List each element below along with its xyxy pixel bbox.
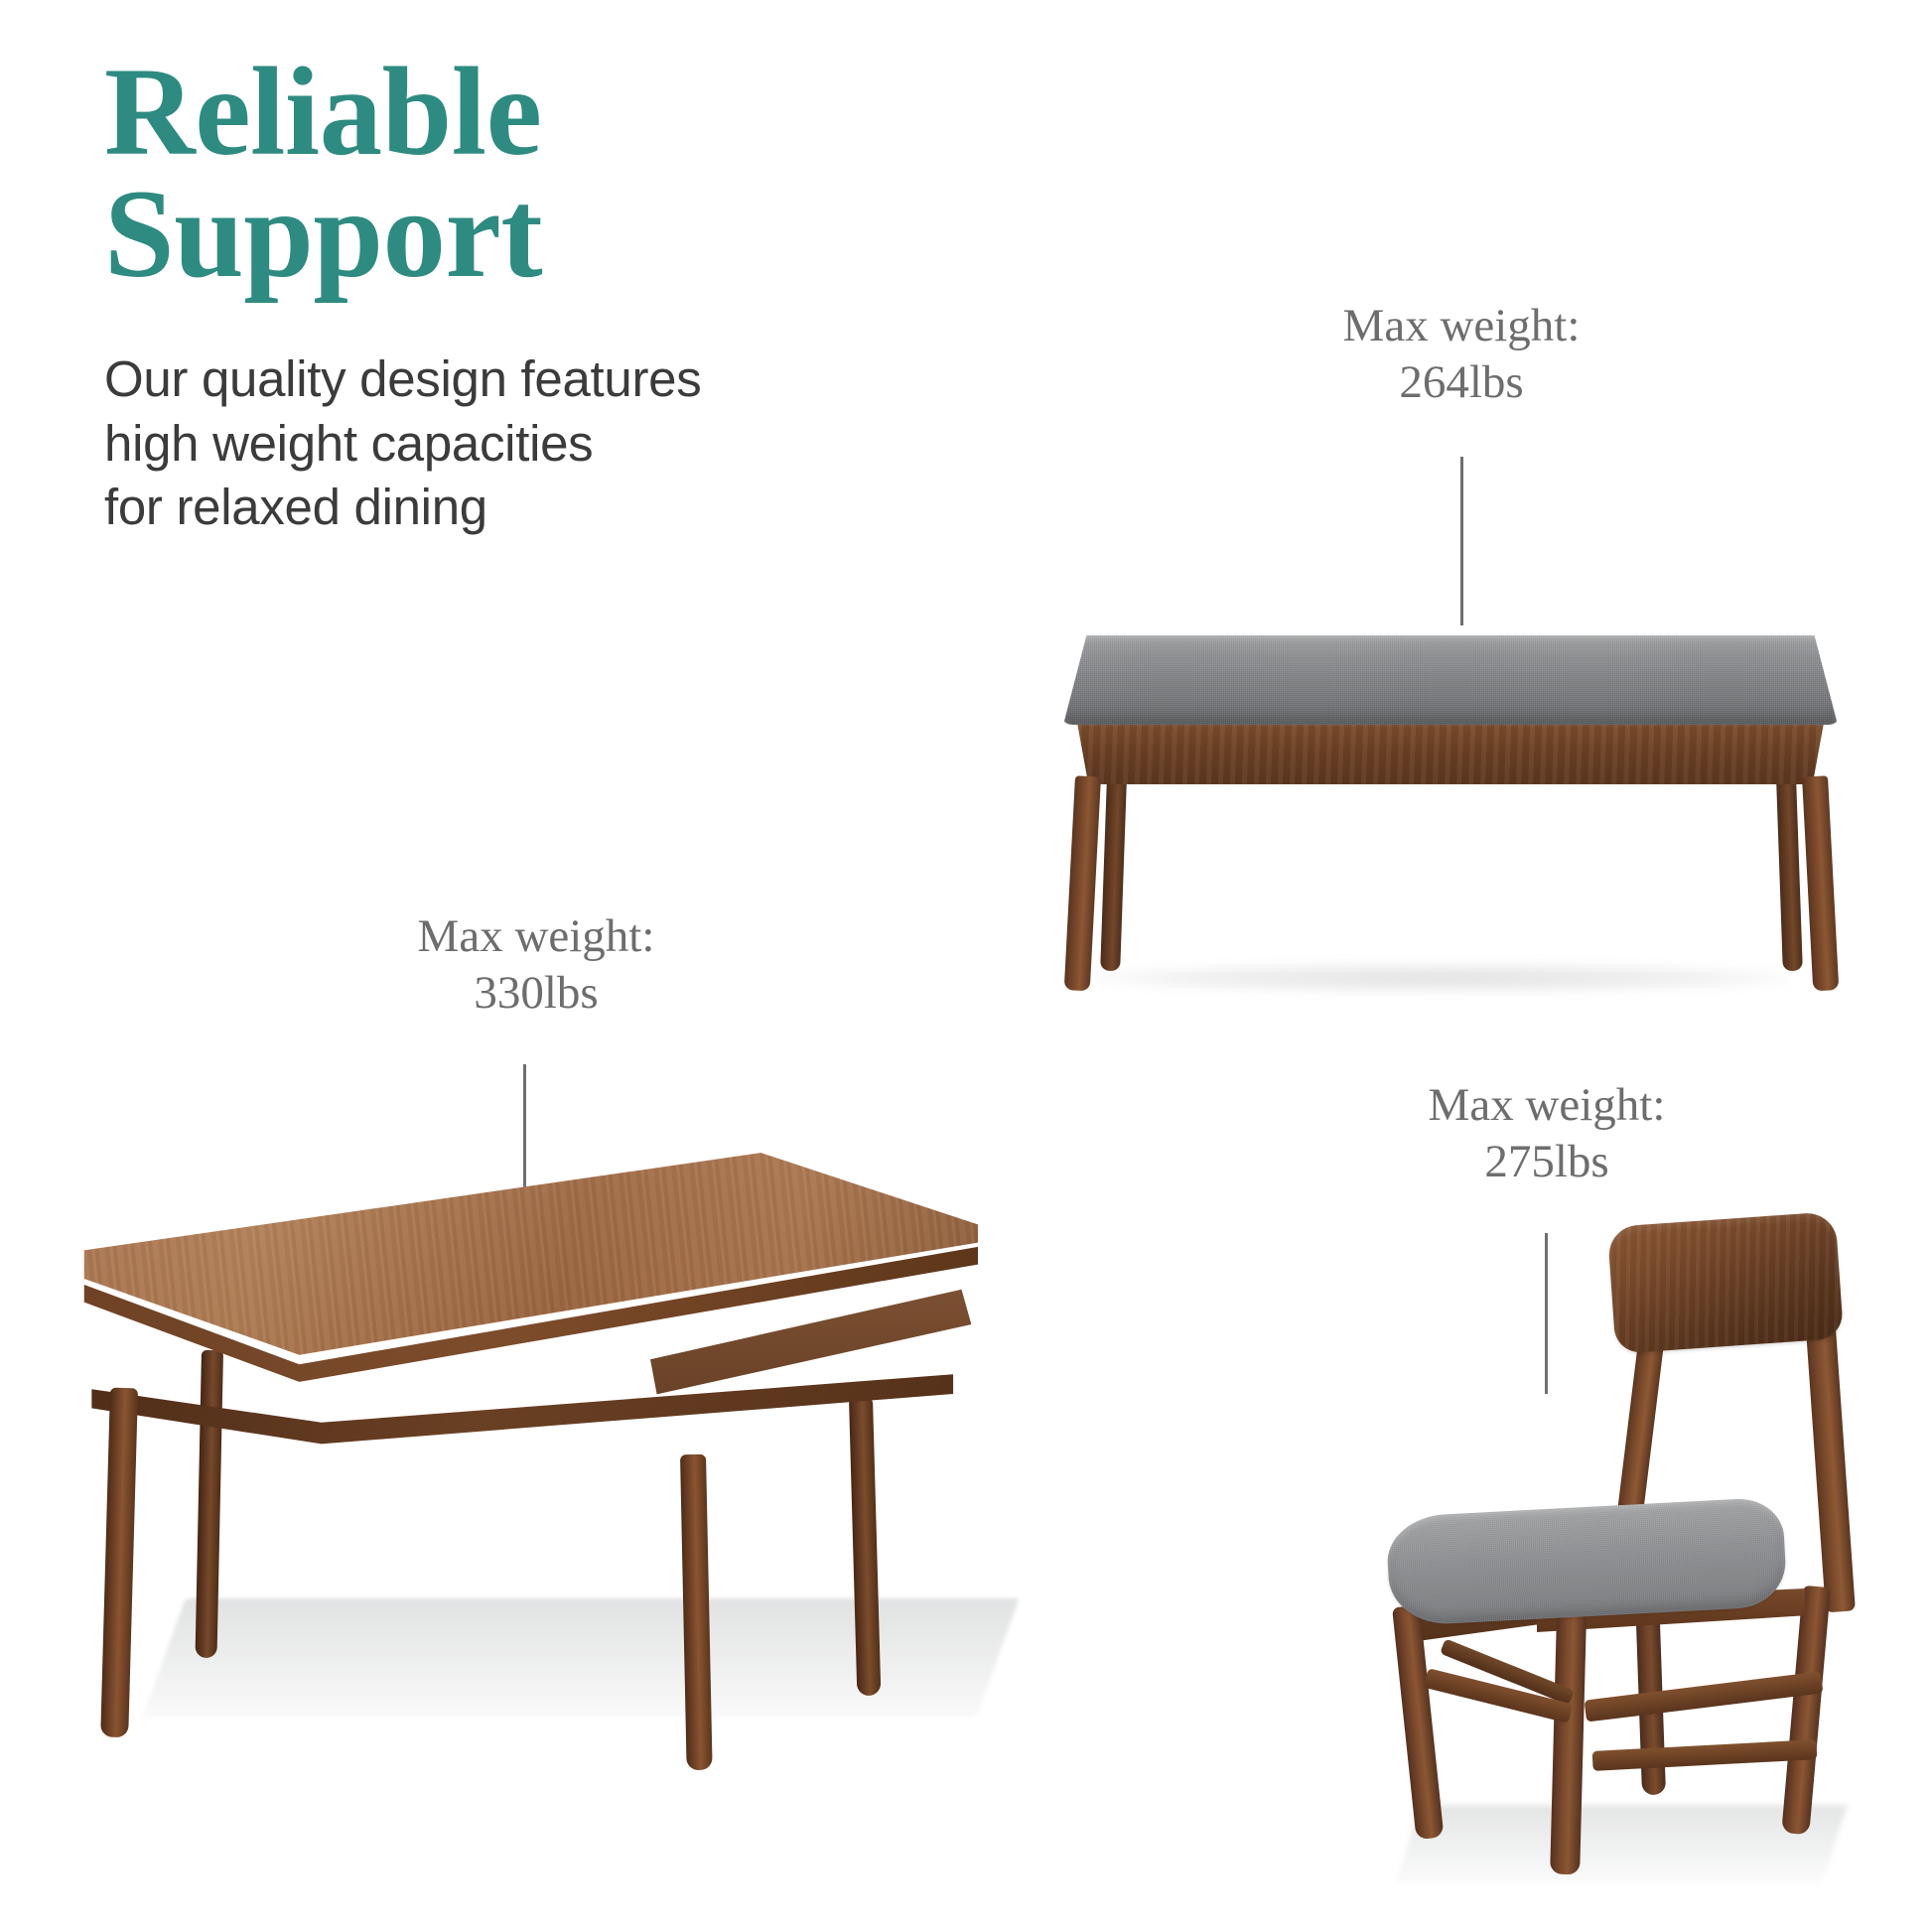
chair-back-post-right (1805, 1313, 1856, 1612)
callout-chair-value: 275lbs (1299, 1134, 1795, 1190)
page-subtitle-line-2: high weight capacities (104, 412, 859, 476)
page-title-line-1: Reliable (104, 52, 859, 174)
infographic-canvas: Reliable Support Our quality design feat… (0, 0, 1932, 1932)
bench-leg-front-right (1802, 775, 1839, 991)
page-subtitle-line-3: for relaxed dining (104, 476, 859, 539)
product-image-table (55, 1142, 1176, 1737)
callout-bench: Max weight: 264lbs (1213, 298, 1710, 412)
table-leg-front-right (680, 1454, 713, 1770)
headline-block: Reliable Support Our quality design feat… (104, 52, 859, 539)
product-image-bench (1055, 614, 1850, 1031)
bench-leg-front-left (1064, 775, 1101, 991)
bench-leg-back-left (1100, 776, 1127, 972)
bench-leg-back-right (1776, 776, 1803, 972)
chair-stretcher-cross (1585, 1671, 1824, 1722)
callout-table-value: 330lbs (288, 965, 784, 1022)
bench-upholstered-seat (1063, 635, 1838, 725)
table-leg-front-left (100, 1388, 138, 1738)
callout-table: Max weight: 330lbs (288, 908, 784, 1023)
callout-chair: Max weight: 275lbs (1299, 1077, 1795, 1191)
table-shadow (142, 1598, 1020, 1718)
page-title: Reliable Support (104, 52, 859, 296)
callout-bench-label: Max weight: (1213, 298, 1710, 354)
chair-backrest-panel (1607, 1211, 1844, 1354)
chair-stretcher-lower (1592, 1739, 1818, 1771)
chair-shadow (1395, 1805, 1848, 1884)
page-subtitle: Our quality design features high weight … (104, 347, 859, 539)
bench-apron (1077, 723, 1824, 784)
page-subtitle-line-1: Our quality design features (104, 347, 859, 411)
chair-leg-front-left (1392, 1605, 1444, 1841)
callout-bench-value: 264lbs (1213, 354, 1710, 411)
product-image-chair (1368, 1219, 1924, 1904)
chair-upholstered-seat (1385, 1497, 1787, 1627)
bench-shadow (1095, 963, 1790, 993)
leader-line-bench (1460, 457, 1463, 625)
callout-table-label: Max weight: (288, 908, 784, 965)
chair-leg-back-right (1781, 1586, 1831, 1835)
page-title-line-2: Support (104, 174, 859, 296)
callout-chair-label: Max weight: (1299, 1077, 1795, 1134)
